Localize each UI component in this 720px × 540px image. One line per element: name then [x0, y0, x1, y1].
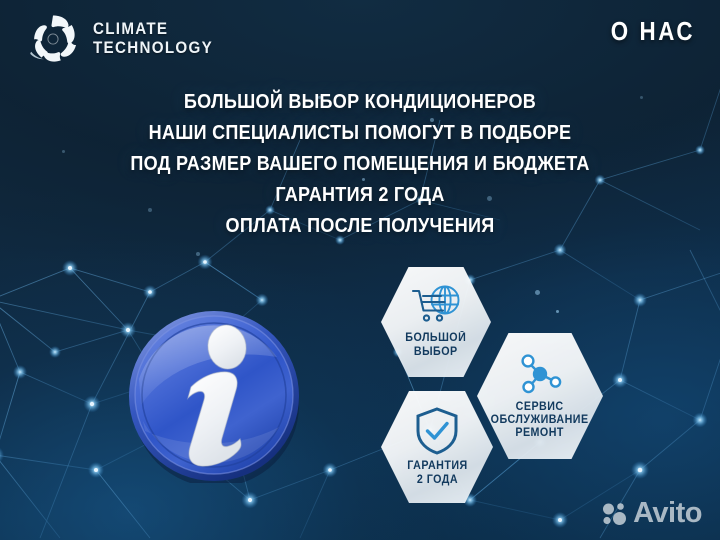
page-title: О НАС [611, 16, 695, 47]
promo-banner: CLIMATE TECHNOLOGY О НАС БОЛЬШОЙ ВЫБОР К… [0, 0, 720, 540]
label-line-2: ВЫБОР [414, 346, 458, 358]
feature-hex-service-label: СЕРВИС ОБСЛУЖИВАНИЕ РЕМОНТ [491, 401, 589, 440]
brand-logo: CLIMATE TECHNOLOGY [24, 10, 223, 68]
label-line-2: ОБСЛУЖИВАНИЕ [491, 414, 589, 426]
label-line-1: СЕРВИС [516, 401, 564, 413]
headline-line-2: НАШИ СПЕЦИАЛИСТЫ ПОМОГУТ В ПОДБОРЕ [43, 117, 677, 148]
banner-header: CLIMATE TECHNOLOGY О НАС [0, 0, 720, 80]
avito-wordmark: Avito [633, 499, 702, 528]
label-line-1: БОЛЬШОЙ [406, 332, 467, 344]
shopping-cart-globe-icon [410, 285, 462, 327]
label-line-1: ГАРАНТИЯ [407, 460, 467, 472]
fan-vortex-icon [24, 10, 82, 68]
headline-line-1: БОЛЬШОЙ ВЫБОР КОНДИЦИОНЕРОВ [43, 86, 677, 117]
avito-dots-icon [601, 501, 627, 527]
feature-hex-warranty-label: ГАРАНТИЯ 2 ГОДА [407, 460, 467, 487]
brand-name: CLIMATE TECHNOLOGY [93, 20, 213, 58]
avito-watermark: Avito [601, 499, 702, 528]
brand-name-line1: CLIMATE [93, 20, 168, 38]
network-mesh-background [0, 0, 720, 540]
feature-hex-choice-label: БОЛЬШОЙ ВЫБОР [406, 332, 467, 359]
shield-check-icon [415, 407, 459, 455]
label-line-3: РЕМОНТ [516, 427, 565, 439]
brand-name-line2: TECHNOLOGY [93, 39, 213, 58]
label-line-2: 2 ГОДА [416, 474, 457, 486]
info-circle-icon [127, 309, 301, 483]
headline-line-4: ГАРАНТИЯ 2 ГОДА [43, 179, 677, 210]
headline-line-3: ПОД РАЗМЕР ВАШЕГО ПОМЕЩЕНИЯ И БЮДЖЕТА [43, 148, 677, 179]
headline-line-5: ОПЛАТА ПОСЛЕ ПОЛУЧЕНИЯ [43, 210, 677, 241]
molecule-network-icon [516, 352, 564, 396]
headline-block: БОЛЬШОЙ ВЫБОР КОНДИЦИОНЕРОВ НАШИ СПЕЦИАЛ… [0, 86, 720, 241]
